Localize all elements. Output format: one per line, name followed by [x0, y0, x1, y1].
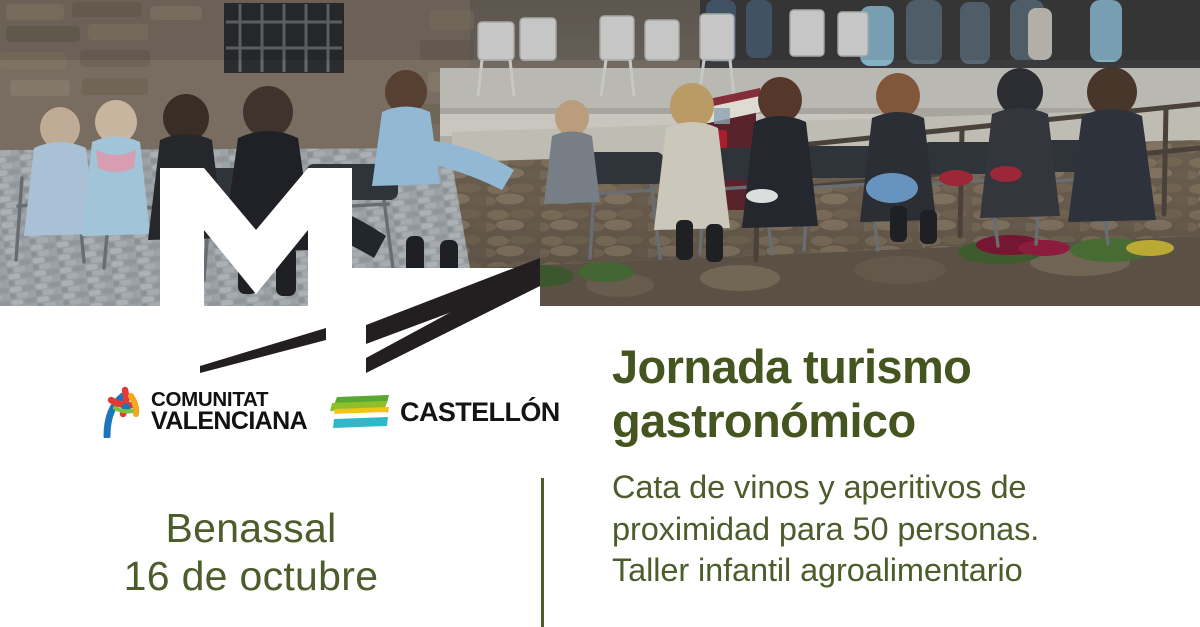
header-photo: [0, 0, 1200, 306]
gva-line-2: VALENCIANA: [151, 410, 307, 433]
main-copy: Jornada turismo gastronómico Cata de vin…: [612, 340, 1192, 592]
comunitat-valenciana-icon: [101, 386, 145, 438]
headline-line-1: Jornada turismo: [612, 340, 1192, 394]
institutional-logos: COMUNITAT VALENCIANA CASTELLÓN: [101, 386, 560, 438]
page-title: Jornada turismo gastronómico: [612, 340, 1192, 448]
comunitat-valenciana-wordmark: COMUNITAT VALENCIANA: [151, 391, 307, 433]
subcopy-line-1: Cata de vinos y aperitivos de: [612, 467, 1192, 509]
poster-canvas: COMUNITAT VALENCIANA CASTELLÓN Benassal …: [0, 0, 1200, 627]
headline-line-2: gastronómico: [612, 394, 1192, 448]
castellon-wordmark: CASTELLÓN: [400, 397, 560, 428]
logo-generalitat-valenciana: COMUNITAT VALENCIANA: [101, 386, 307, 438]
event-date: 16 de octubre: [0, 553, 502, 601]
event-details: Benassal 16 de octubre: [0, 505, 502, 601]
logo-castellon: CASTELLÓN: [329, 394, 560, 430]
castellon-icon: [329, 394, 391, 430]
description: Cata de vinos y aperitivos de proximidad…: [612, 467, 1192, 592]
subcopy-line-3: Taller infantil agroalimentario: [612, 550, 1192, 592]
vertical-divider: [541, 478, 544, 627]
subcopy-line-2: proximidad para 50 personas.: [612, 509, 1192, 551]
event-location: Benassal: [0, 505, 502, 553]
